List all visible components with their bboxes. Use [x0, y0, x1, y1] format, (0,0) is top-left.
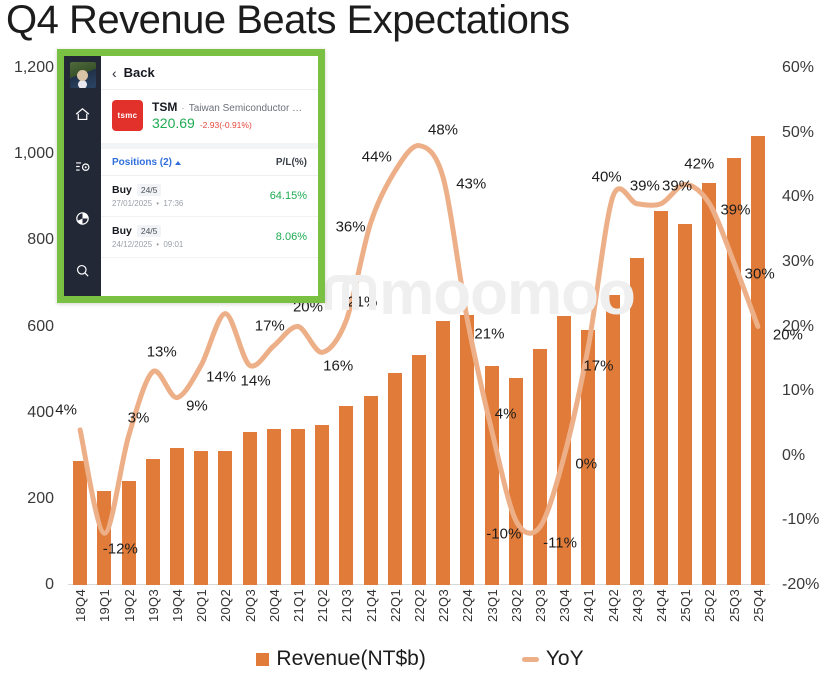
y-axis-tick-right: -20% [782, 576, 819, 594]
yoy-data-label: 48% [428, 121, 458, 138]
legend-item-yoy: YoY [522, 647, 584, 671]
app-header: ‹ Back [101, 56, 318, 90]
tsmc-logo-icon: tsmc [112, 100, 143, 131]
y-axis-tick-left: 0 [45, 576, 54, 594]
position-side-row: Buy 24/5 [112, 225, 183, 237]
yoy-data-label: 43% [456, 175, 486, 192]
x-axis-label: 19Q4 [170, 589, 185, 622]
x-axis-label: 22Q2 [412, 589, 427, 622]
timestamp-separator: • [154, 240, 161, 249]
y-axis-tick-right: 50% [782, 124, 814, 142]
position-timestamp: 27/01/2025 • 17:36 [112, 199, 183, 208]
position-pl-value: 8.06% [276, 231, 307, 243]
x-axis-label: 22Q3 [436, 589, 451, 622]
position-quantity: 24/5 [137, 184, 162, 196]
position-time: 09:01 [163, 240, 183, 249]
caret-up-icon[interactable] [175, 161, 181, 165]
x-axis-label: 24Q3 [630, 589, 645, 622]
y-axis-tick-right: 30% [782, 253, 814, 271]
y-axis-tick-left: 600 [27, 318, 54, 336]
pl-column-header: P/L(%) [276, 157, 307, 168]
x-axis-label: 21Q1 [291, 589, 306, 622]
y-axis-left: 02004006008001,0001,200 [0, 68, 60, 585]
position-quantity: 24/5 [137, 225, 162, 237]
position-side: Buy [112, 225, 132, 237]
yoy-data-label: -11% [543, 534, 577, 551]
x-axis-label: 23Q3 [533, 589, 548, 622]
positions-header[interactable]: Positions (2) P/L(%) [101, 149, 318, 176]
yoy-data-label: 20% [773, 326, 803, 343]
quote-price-row: 320.69 -2.93(-0.91%) [152, 115, 307, 131]
search-icon[interactable] [64, 244, 101, 296]
yoy-data-label: 16% [323, 358, 353, 375]
ticker-symbol: TSM [152, 100, 177, 114]
legend-swatch-yoy-icon [522, 657, 539, 662]
y-axis-tick-left: 800 [27, 231, 54, 249]
yoy-data-label: 9% [186, 397, 208, 414]
position-pl-value: 64.15% [270, 190, 307, 202]
position-row[interactable]: Buy 24/5 27/01/2025 • 17:36 64.15% [101, 176, 318, 217]
x-axis-label: 25Q3 [727, 589, 742, 622]
x-axis-label: 20Q2 [218, 589, 233, 622]
y-axis-tick-left: 400 [27, 404, 54, 422]
y-axis-tick-right: 10% [782, 382, 814, 400]
position-info: Buy 24/5 27/01/2025 • 17:36 [112, 184, 183, 208]
yoy-data-label: 30% [745, 265, 775, 282]
x-axis-label: 24Q4 [654, 589, 669, 622]
legend-item-revenue: Revenue(NT$b) [256, 647, 425, 671]
back-button[interactable]: Back [124, 65, 155, 80]
yoy-data-label: 39% [720, 201, 750, 218]
legend-label-revenue: Revenue(NT$b) [276, 647, 425, 671]
yoy-data-label: 4% [495, 405, 517, 422]
yoy-data-label: 14% [241, 373, 271, 390]
x-axis-label: 24Q1 [581, 589, 596, 622]
y-axis-tick-right: 0% [782, 447, 805, 465]
x-axis-label: 21Q3 [339, 589, 354, 622]
x-axis-label: 25Q1 [678, 589, 693, 622]
yoy-data-label: 3% [128, 410, 150, 427]
x-axis-label: 22Q1 [388, 589, 403, 622]
x-axis-label: 20Q4 [267, 589, 282, 622]
position-side-row: Buy 24/5 [112, 184, 183, 196]
positions-title-group[interactable]: Positions (2) [112, 157, 181, 168]
app-sidebar-rail [64, 56, 101, 296]
yoy-data-label: 17% [583, 357, 613, 374]
y-axis-tick-left: 200 [27, 490, 54, 508]
yoy-data-label: -12% [103, 541, 138, 558]
tsmc-logo-text: tsmc [118, 111, 138, 120]
separator-dot: · [181, 103, 184, 114]
last-price: 320.69 [152, 115, 195, 131]
position-time: 17:36 [163, 199, 183, 208]
x-axis-labels: 18Q419Q119Q219Q319Q420Q120Q220Q320Q421Q1… [68, 589, 770, 639]
position-timestamp: 24/12/2025 • 09:01 [112, 240, 183, 249]
yoy-data-label: 40% [592, 169, 622, 186]
pie-chart-icon[interactable] [64, 192, 101, 244]
position-date: 24/12/2025 [112, 240, 152, 249]
timestamp-separator: • [154, 199, 161, 208]
quote-name-row: TSM · Taiwan Semiconductor Ma... [152, 100, 307, 114]
yoy-data-label: 13% [147, 343, 177, 360]
x-axis-label: 25Q2 [702, 589, 717, 622]
yoy-data-label: 14% [206, 369, 236, 386]
position-side: Buy [112, 184, 132, 196]
y-axis-tick-right: 40% [782, 188, 814, 206]
watchlist-icon[interactable] [64, 140, 101, 192]
x-axis-label: 23Q1 [485, 589, 500, 622]
position-date: 27/01/2025 [112, 199, 152, 208]
y-axis-tick-right: 60% [782, 59, 814, 77]
yoy-data-label: 17% [255, 317, 285, 334]
x-axis-label: 18Q4 [73, 589, 88, 622]
yoy-data-label: 42% [684, 156, 714, 173]
yoy-data-label: 44% [362, 149, 392, 166]
x-axis-label: 21Q4 [364, 589, 379, 622]
x-axis-label: 19Q2 [122, 589, 137, 622]
chart-legend: Revenue(NT$b) YoY [0, 644, 840, 674]
yoy-data-label: 4% [55, 401, 77, 418]
legend-swatch-revenue-icon [256, 653, 269, 666]
app-content: ‹ Back tsmc TSM · Taiwan Semiconductor M… [101, 56, 318, 296]
chevron-left-icon[interactable]: ‹ [112, 66, 117, 80]
y-axis-tick-right: -10% [782, 511, 819, 529]
x-axis-label: 23Q4 [557, 589, 572, 622]
avatar[interactable] [70, 62, 96, 88]
yoy-data-label: 36% [336, 219, 366, 236]
quote-text-block: TSM · Taiwan Semiconductor Ma... 320.69 … [152, 100, 307, 131]
x-axis-label: 25Q4 [751, 589, 766, 622]
x-axis-label: 24Q2 [606, 589, 621, 622]
quote-summary[interactable]: tsmc TSM · Taiwan Semiconductor Ma... 32… [101, 90, 318, 149]
yoy-data-label: 21% [474, 326, 504, 343]
yoy-data-label: 21% [347, 294, 377, 311]
yoy-data-label: 39% [662, 177, 692, 194]
yoy-data-label: 39% [630, 177, 660, 194]
x-axis-label: 23Q2 [509, 589, 524, 622]
x-axis-label: 22Q4 [460, 589, 475, 622]
x-axis-label: 20Q3 [243, 589, 258, 622]
legend-label-yoy: YoY [546, 647, 584, 671]
positions-title: Positions (2) [112, 157, 172, 168]
x-axis-label: 20Q1 [194, 589, 209, 622]
x-axis-label: 21Q2 [315, 589, 330, 622]
position-info: Buy 24/5 24/12/2025 • 09:01 [112, 225, 183, 249]
app-window: ‹ Back tsmc TSM · Taiwan Semiconductor M… [64, 56, 318, 296]
y-axis-tick-left: 1,200 [14, 59, 54, 77]
x-axis-label: 19Q1 [97, 589, 112, 622]
moomoo-app-inset: ‹ Back tsmc TSM · Taiwan Semiconductor M… [57, 49, 325, 303]
y-axis-tick-left: 1,000 [14, 145, 54, 163]
yoy-data-label: -10% [486, 526, 521, 543]
price-change: -2.93(-0.91%) [200, 120, 252, 130]
home-icon[interactable] [64, 88, 101, 140]
company-name: Taiwan Semiconductor Ma... [189, 103, 307, 114]
x-axis-label: 19Q3 [146, 589, 161, 622]
yoy-data-label: 0% [575, 455, 597, 472]
position-row[interactable]: Buy 24/5 24/12/2025 • 09:01 8.06% [101, 217, 318, 258]
